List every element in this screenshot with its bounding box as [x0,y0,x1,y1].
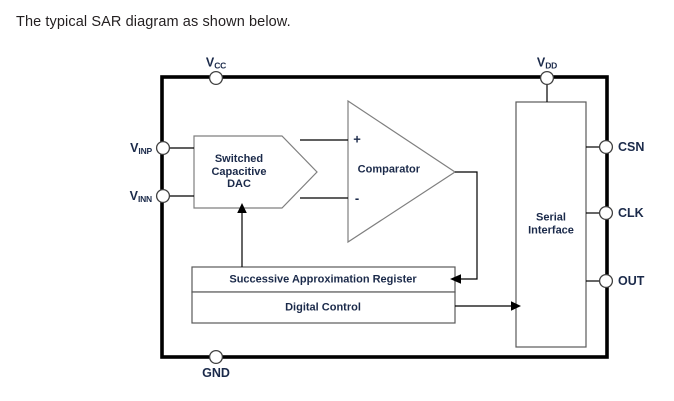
pin-label-csn: CSN [618,140,644,154]
pin-circle-csn[interactable] [600,141,613,154]
block-label-switched-capacitive-dac: Switched Capacitive DAC [184,153,294,191]
pin-label-gnd: GND [202,366,230,380]
pin-circle-vinn[interactable] [157,190,170,203]
sar-block-diagram: VCC VDD VINP VINN GND CSN CLK OUT Switch… [0,0,674,401]
serial-interface-label-line1: Serial [516,211,586,224]
pin-circle-vinp[interactable] [157,142,170,155]
serial-interface-label-line2: Interface [516,224,586,237]
pin-circle-clk[interactable] [600,207,613,220]
pin-circle-out[interactable] [600,275,613,288]
block-label-comparator: Comparator [358,164,420,177]
pin-circle-vdd[interactable] [541,72,554,85]
diagram-canvas [0,0,674,401]
pin-label-vinp: VINP [130,141,152,155]
comparator-minus-sign: - [355,192,359,207]
pin-label-clk: CLK [618,206,644,220]
dac-label-line2: Capacitive [184,166,294,179]
pin-label-out: OUT [618,274,644,288]
block-label-sar-register: Successive Approximation Register [193,274,453,287]
pin-circle-gnd[interactable] [210,351,223,364]
wire-comparator-to-sar [455,172,477,279]
pin-circle-vcc[interactable] [210,72,223,85]
dac-label-line1: Switched [184,153,294,166]
pin-label-vinn: VINN [130,189,152,203]
block-label-digital-control: Digital Control [193,302,453,315]
pin-label-vcc: VCC [206,56,226,70]
pin-label-vdd: VDD [537,56,557,70]
comparator-plus-sign: + [353,133,361,148]
dac-label-line3: DAC [184,178,294,191]
block-label-serial-interface: Serial Interface [516,211,586,236]
